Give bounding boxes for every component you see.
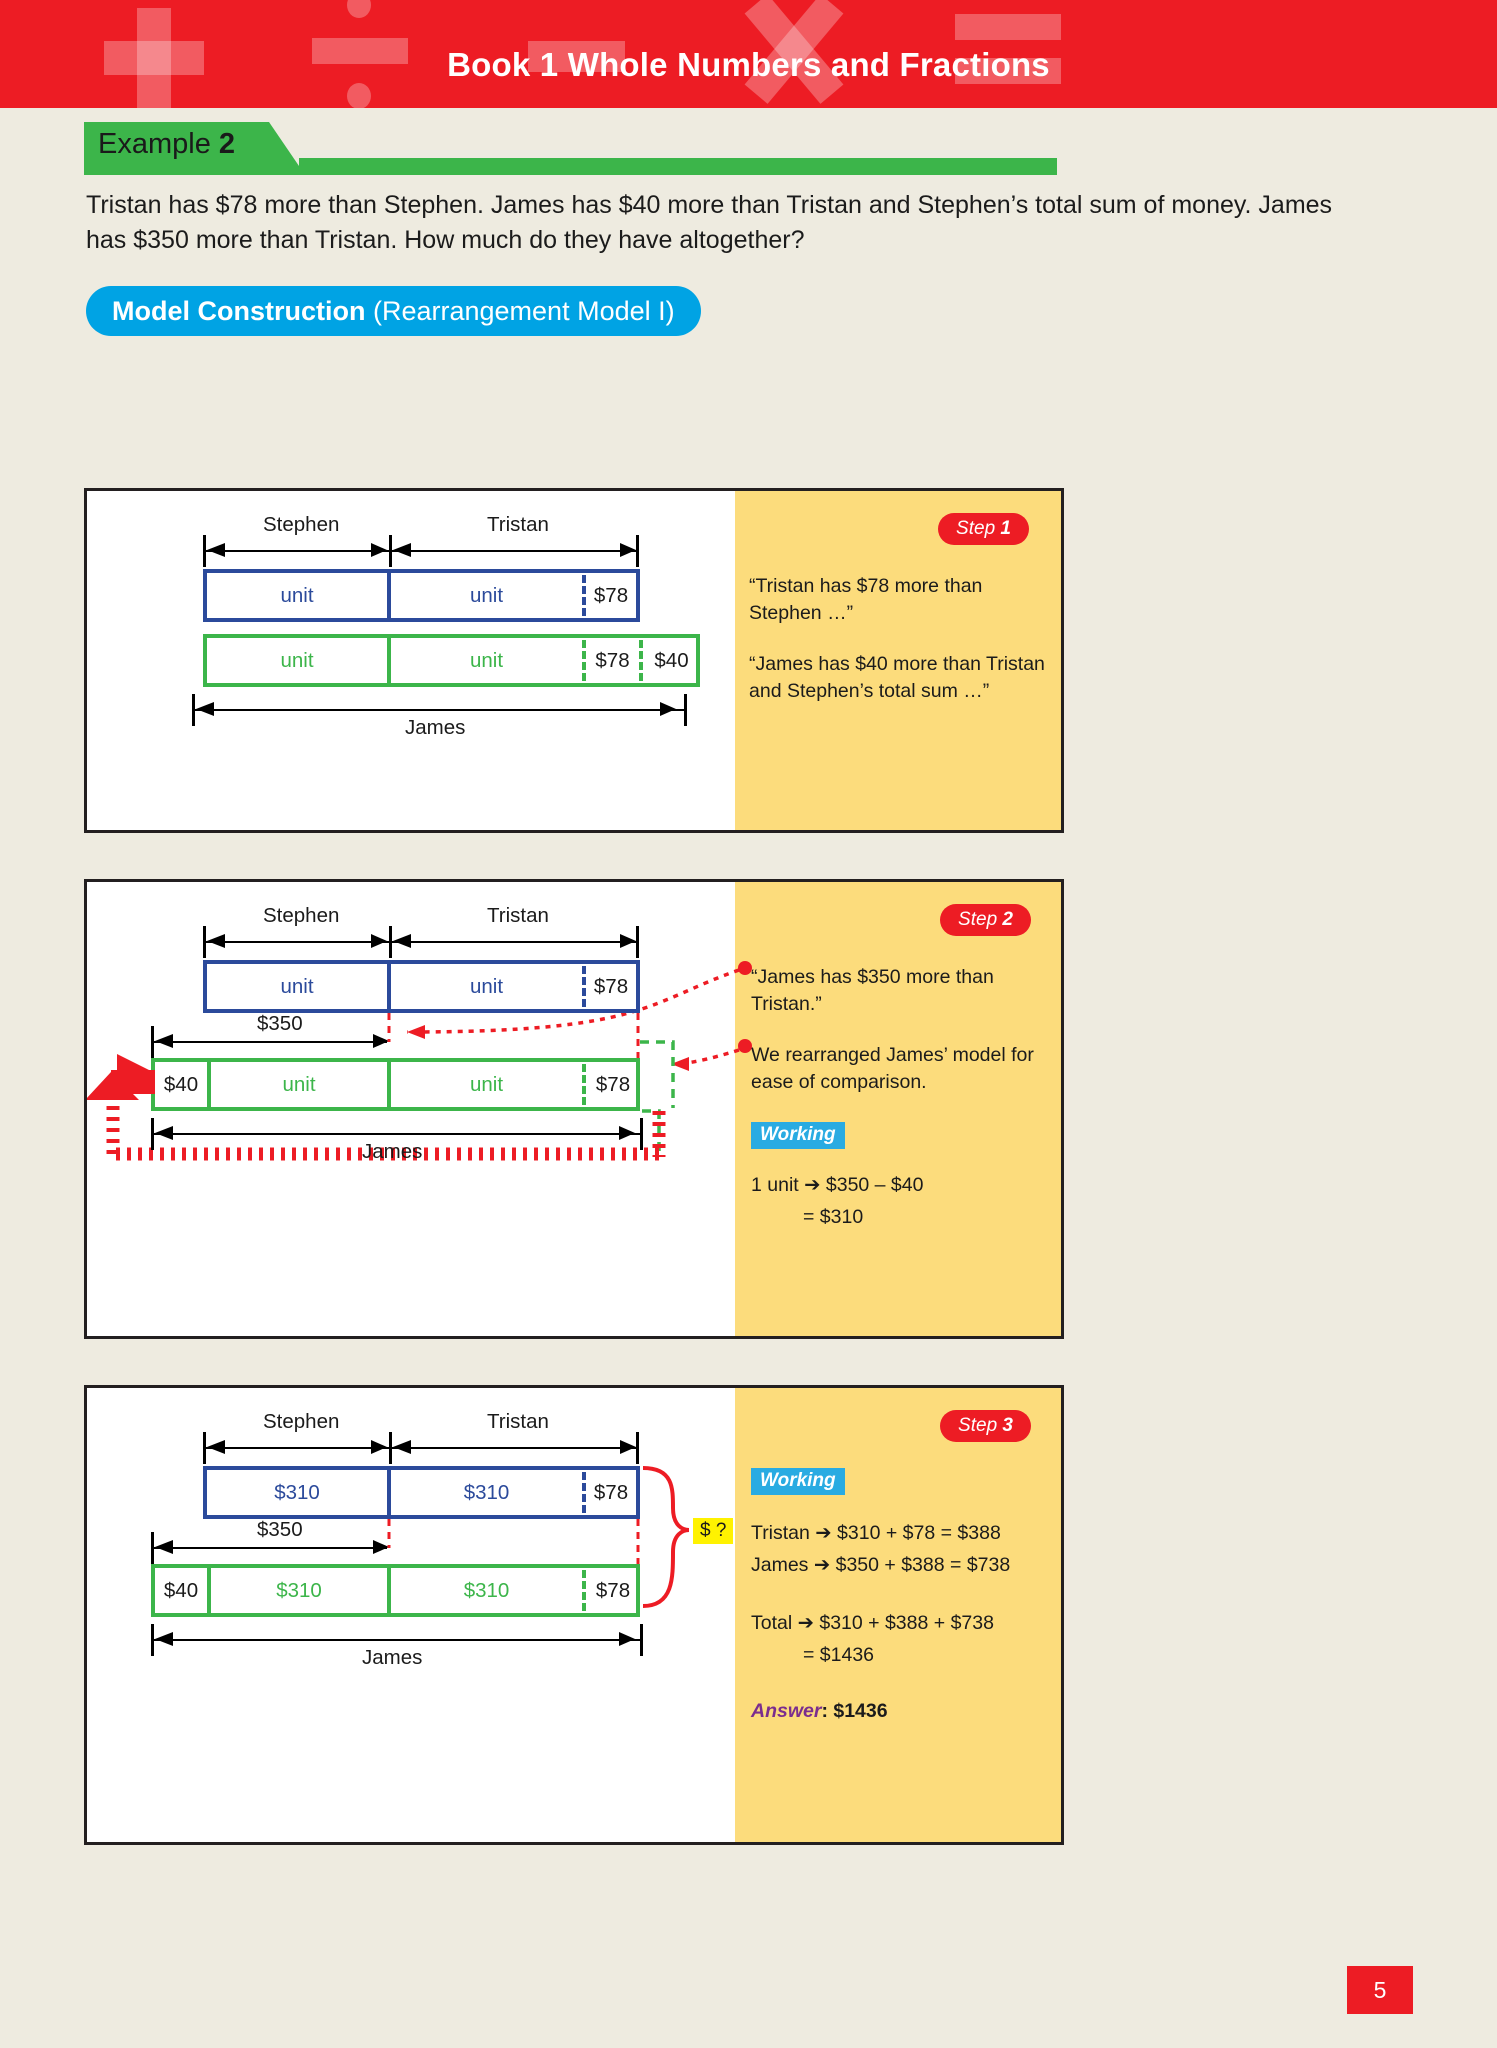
problem-statement: Tristan has $78 more than Stephen. James… — [86, 188, 1336, 258]
step-3-badge: Step 3 — [940, 1410, 1031, 1442]
book-label: Book 1 — [447, 46, 558, 83]
step-1-green-seg-1: unit — [391, 638, 582, 683]
example-rule-upper — [299, 158, 1057, 166]
step-3-working-line-2: Total ➔ $310 + $388 + $738 — [751, 1610, 994, 1637]
step-1-blue-seg-0: unit — [207, 573, 387, 618]
step-2-rearrange-arrows — [87, 882, 787, 1202]
model-construction-banner: Model Construction (Rearrangement Model … — [86, 286, 701, 336]
step-3-james-label: James — [362, 1646, 422, 1670]
step-1-green-seg-0: unit — [207, 638, 387, 683]
step-1-note-1: “Tristan has $78 more than Stephen …” — [749, 573, 1049, 627]
step-3-brace — [87, 1388, 787, 1728]
step-1-blue-seg-2: $78 — [586, 573, 636, 618]
step-3-working-line-3: = $1436 — [803, 1642, 874, 1669]
step-3-answer-value: : $1436 — [821, 1700, 887, 1722]
page-number: 5 — [1347, 1966, 1413, 2014]
model-construction-subtitle: (Rearrangement Model I) — [365, 296, 674, 326]
bracket-arrowheads-1 — [199, 539, 659, 563]
step-1-badge-number: 1 — [1000, 518, 1011, 539]
step-1-green-seg-3: $40 — [643, 638, 700, 683]
step-2-panel: Step 2 “James has $350 more than Tristan… — [84, 879, 1064, 1339]
step-3-unknown-tag: $ ? — [693, 1518, 733, 1544]
step-3-badge-word: Step — [958, 1415, 1002, 1436]
step-1-stephen-label: Stephen — [263, 513, 339, 537]
step-2-james-label: James — [362, 1140, 422, 1164]
step-1-tristan-label: Tristan — [487, 513, 549, 537]
page-title: Book 1 Whole Numbers and Fractions — [0, 46, 1497, 84]
step-1-note-2: “James has $40 more than Tristan and Ste… — [749, 651, 1051, 705]
step-3-working-line-0: Tristan ➔ $310 + $78 = $388 — [751, 1520, 1001, 1547]
book-subtitle: Whole Numbers and Fractions — [558, 46, 1050, 83]
step-3-panel: Step 3 Working Tristan ➔ $310 + $78 = $3… — [84, 1385, 1064, 1845]
model-construction-title: Model Construction — [112, 296, 365, 326]
step-1-badge-word: Step — [956, 518, 1000, 539]
step-1-green-seg-2: $78 — [586, 638, 639, 683]
step-1-blue-seg-1: unit — [391, 573, 582, 618]
step-1-badge: Step 1 — [938, 513, 1029, 545]
page-header: Book 1 Whole Numbers and Fractions — [0, 0, 1497, 108]
example-label: Example — [98, 128, 219, 160]
step-1-panel: Step 1 “Tristan has $78 more than Stephe… — [84, 488, 1064, 833]
step-3-working-line-1: James ➔ $350 + $388 = $738 — [751, 1552, 1010, 1579]
example-rule — [84, 166, 1057, 175]
example-header: Example 2 — [84, 122, 1414, 170]
example-tab: Example 2 — [84, 122, 299, 166]
step-3-badge-number: 3 — [1002, 1415, 1013, 1436]
example-number: 2 — [219, 128, 235, 160]
step-1-james-label: James — [405, 716, 465, 740]
